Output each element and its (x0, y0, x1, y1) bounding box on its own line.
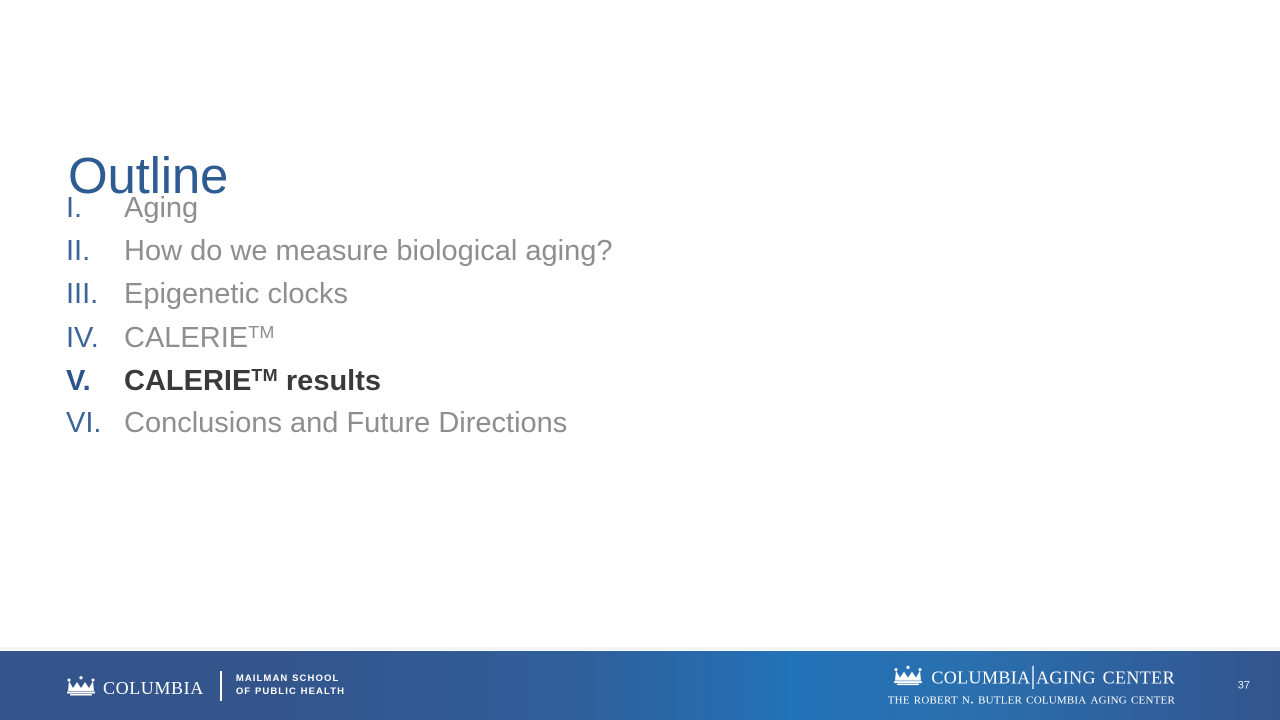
crown-icon (66, 676, 96, 696)
list-item[interactable]: II. How do we measure biological aging? (66, 237, 1066, 280)
list-item-label: How do we measure biological aging? (124, 237, 612, 266)
list-item[interactable]: III. Epigenetic clocks (66, 280, 1066, 323)
list-item-numeral: V. (66, 367, 124, 396)
columbia-mailman-logo: Columbia Mailman School of Public Health (66, 671, 345, 701)
columbia-aging-center-logo: Columbia|Aging Center The Robert N. Butl… (888, 663, 1175, 708)
list-item-label: Aging (124, 194, 198, 223)
list-item-label: CALERIETM (124, 323, 275, 353)
logo-divider (220, 671, 222, 701)
crown-icon (893, 666, 923, 686)
trademark-symbol: TM (251, 365, 278, 385)
aging-center-subtitle: The Robert N. Butler Columbia Aging Cent… (888, 690, 1175, 708)
aging-center-title: Columbia|Aging Center (931, 663, 1175, 688)
list-item[interactable]: I. Aging (66, 194, 1066, 237)
footer-divider (0, 647, 1280, 650)
trademark-symbol: TM (248, 322, 275, 342)
list-item[interactable]: IV. CALERIETM (66, 323, 1066, 366)
aging-center-title-row: Columbia|Aging Center (888, 663, 1175, 688)
list-item-label: Epigenetic clocks (124, 280, 348, 309)
slide-canvas: Outline I. Aging II. How do we measure b… (0, 0, 1280, 720)
list-item-label: Conclusions and Future Directions (124, 409, 567, 438)
list-item[interactable]: VI. Conclusions and Future Directions (66, 409, 1066, 452)
columbia-wordmark: Columbia (103, 673, 204, 699)
list-item-numeral: I. (66, 194, 124, 223)
list-item-label-tail: results (278, 365, 381, 397)
list-item-label: CALERIETM results (124, 366, 381, 396)
page-number: 37 (1238, 680, 1250, 691)
list-item-numeral: IV. (66, 324, 124, 353)
outline-list: I. Aging II. How do we measure biologica… (66, 194, 1066, 452)
list-item-current[interactable]: V. CALERIETM results (66, 366, 1066, 409)
list-item-numeral: VI. (66, 409, 124, 438)
list-item-label-text: CALERIE (124, 365, 251, 397)
footer-bar: Columbia Mailman School of Public Health (0, 651, 1280, 720)
list-item-label-text: CALERIE (124, 322, 248, 354)
mailman-school-name: Mailman School of Public Health (236, 673, 345, 699)
school-line-1: Mailman School (236, 673, 340, 684)
list-item-numeral: III. (66, 280, 124, 309)
school-line-2: of Public Health (236, 686, 345, 697)
list-item-numeral: II. (66, 237, 124, 266)
